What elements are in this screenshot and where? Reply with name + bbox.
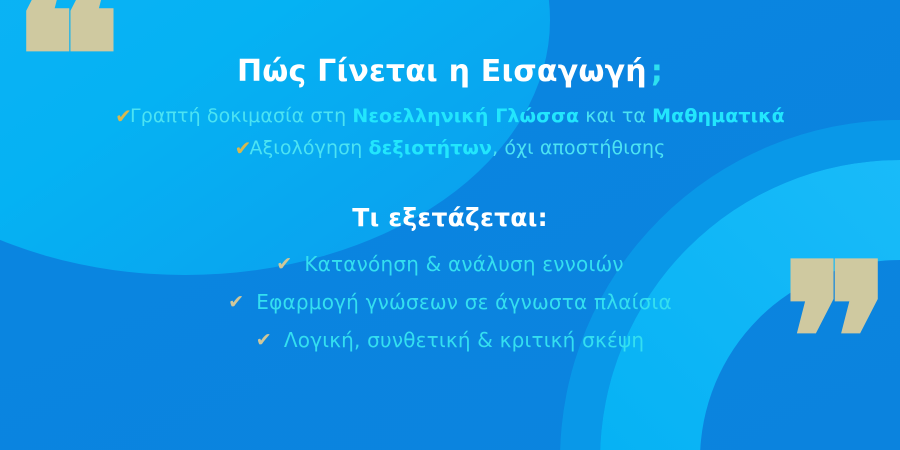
check-icon: ✔: [256, 329, 272, 351]
list-item: ✔Εφαρμογή γνώσεων σε άγνωστα πλαίσια: [28, 290, 872, 314]
bullet-highlight-2: Μαθηματικά: [652, 105, 785, 127]
bullet-lead-text: Αξιολόγηση: [250, 137, 369, 159]
check-icon: ✔: [115, 104, 132, 128]
list-item-label: Λογική, συνθετική & κριτική σκέψη: [284, 328, 644, 352]
slide-content: Πώς Γίνεται η Εισαγωγή; ✔Γραπτή δοκιμασί…: [0, 0, 900, 450]
slide-title: Πώς Γίνεται η Εισαγωγή;: [28, 54, 872, 89]
list-item: ✔Γραπτή δοκιμασία στη Νεοελληνική Γλώσσα…: [28, 103, 872, 127]
bullet-highlight-1: δεξιοτήτων: [369, 137, 493, 159]
list-item: ✔Κατανόηση & ανάλυση εννοιών: [28, 252, 872, 276]
exam-criteria-list: ✔Κατανόηση & ανάλυση εννοιών ✔Εφαρμογή γ…: [28, 252, 872, 352]
list-item-label: Εφαρμογή γνώσεων σε άγνωστα πλαίσια: [256, 290, 672, 314]
section-subheading: Τι εξετάζεται:: [28, 203, 872, 232]
bullet-middle-text: και τα: [579, 105, 652, 127]
check-icon: ✔: [235, 136, 252, 160]
bullet-lead-text: Γραπτή δοκιμασία στη: [130, 105, 352, 127]
list-item-label: Κατανόηση & ανάλυση εννοιών: [304, 252, 623, 276]
bullet-middle-text: , όχι αποστήθισης: [492, 137, 665, 159]
greek-question-mark: ;: [647, 54, 663, 89]
check-icon: ✔: [228, 291, 244, 313]
quote-slide: ❝ ❞ Πώς Γίνεται η Εισαγωγή; ✔Γραπτή δοκι…: [0, 0, 900, 450]
list-item: ✔Λογική, συνθετική & κριτική σκέψη: [28, 328, 872, 352]
slide-title-text: Πώς Γίνεται η Εισαγωγή: [237, 54, 647, 89]
list-item: ✔Αξιολόγηση δεξιοτήτων, όχι αποστήθισης: [28, 135, 872, 159]
intro-bullet-list: ✔Γραπτή δοκιμασία στη Νεοελληνική Γλώσσα…: [28, 103, 872, 159]
bullet-highlight-1: Νεοελληνική Γλώσσα: [352, 105, 579, 127]
check-icon: ✔: [276, 253, 292, 275]
